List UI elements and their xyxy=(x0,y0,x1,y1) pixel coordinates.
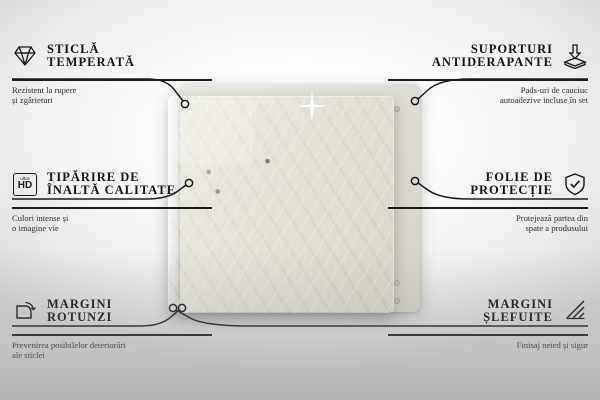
feature-suporturi-antiderapante: SUPORTURI ANTIDERAPANTE Pads-uri de cauc… xyxy=(388,36,588,106)
feature-title: FOLIE DE PROTECȚIE xyxy=(470,171,553,198)
hd-badge-main-text: HD xyxy=(18,181,32,191)
feature-divider xyxy=(12,207,212,209)
feature-title: MARGINI ȘLEFUITE xyxy=(483,298,553,325)
feature-subtitle: Pads-uri de cauciuc autoadezive incluse … xyxy=(388,85,588,106)
hatch-lines-icon xyxy=(562,298,588,324)
ultra-hd-badge-icon: ultra HD xyxy=(12,171,38,197)
feature-divider xyxy=(388,334,588,336)
feature-divider xyxy=(12,334,212,336)
press-pad-icon xyxy=(562,43,588,69)
feature-subtitle: Prevenirea posibilelor deteriorări ale s… xyxy=(12,340,212,361)
infographic-canvas: STICLĂ TEMPERATĂ Rezistent la rupere și … xyxy=(0,0,600,400)
feature-header: ultra HD TIPĂRIRE DE ÎNALTĂ CALITATE xyxy=(12,164,212,204)
feature-folie-de-protectie: FOLIE DE PROTECȚIE Protejează partea din… xyxy=(388,164,588,234)
feature-title: TIPĂRIRE DE ÎNALTĂ CALITATE xyxy=(47,171,176,198)
feature-title: SUPORTURI ANTIDERAPANTE xyxy=(432,43,553,70)
feature-margini-rotunzi: MARGINI ROTUNZI Prevenirea posibilelor d… xyxy=(12,291,212,361)
feature-header: SUPORTURI ANTIDERAPANTE xyxy=(388,36,588,76)
feature-margini-slefuite: MARGINI ȘLEFUITE Finisaj neted și sigur xyxy=(388,291,588,350)
shield-check-icon xyxy=(562,171,588,197)
feature-subtitle: Finisaj neted și sigur xyxy=(388,340,588,351)
feature-tiparire-inalta-calitate: ultra HD TIPĂRIRE DE ÎNALTĂ CALITATE Cul… xyxy=(12,164,212,234)
feature-divider xyxy=(388,207,588,209)
feature-subtitle: Rezistent la rupere și zgârieturi xyxy=(12,85,212,106)
feature-subtitle: Protejează partea din spate a produsului xyxy=(388,213,588,234)
feature-divider xyxy=(388,79,588,81)
feature-header: MARGINI ȘLEFUITE xyxy=(388,291,588,331)
rubber-pad xyxy=(394,106,400,112)
feature-title: MARGINI ROTUNZI xyxy=(47,298,112,325)
diamond-icon xyxy=(12,43,38,69)
feature-title: STICLĂ TEMPERATĂ xyxy=(47,43,135,70)
rubber-pad xyxy=(394,280,400,286)
feature-divider xyxy=(12,79,212,81)
feature-subtitle: Culori intense și o imagine vie xyxy=(12,213,212,234)
feature-header: FOLIE DE PROTECȚIE xyxy=(388,164,588,204)
feature-sticla-temperata: STICLĂ TEMPERATĂ Rezistent la rupere și … xyxy=(12,36,212,106)
rounded-corner-icon xyxy=(12,298,38,324)
feature-header: STICLĂ TEMPERATĂ xyxy=(12,36,212,76)
feature-header: MARGINI ROTUNZI xyxy=(12,291,212,331)
